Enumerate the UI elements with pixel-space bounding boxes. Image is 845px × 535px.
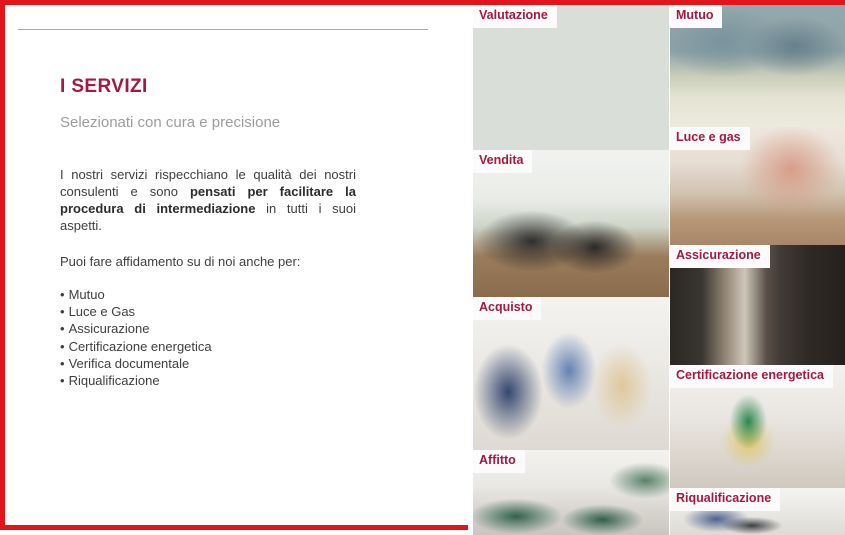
- couple-signing-contract-photo: [473, 297, 669, 450]
- list-item-label: Mutuo: [69, 287, 105, 302]
- text-panel: I SERVIZI Selezionati con cura e precisi…: [5, 5, 468, 525]
- list-item-label: Luce e Gas: [69, 304, 136, 319]
- list-item: •Riqualificazione: [60, 372, 360, 389]
- list-item: •Mutuo: [60, 286, 360, 303]
- list-item: •Assicurazione: [60, 320, 360, 337]
- list-item-label: Assicurazione: [69, 321, 150, 336]
- photo-tile-valutazione[interactable]: Valutazione: [473, 5, 669, 150]
- photo-label-valutazione: Valutazione: [473, 5, 557, 28]
- photo-label-acquisto: Acquisto: [473, 297, 541, 320]
- secondary-paragraph: Puoi fare affidamento su di noi anche pe…: [60, 253, 356, 270]
- list-item: •Certificazione energetica: [60, 338, 360, 355]
- photo-tile-affitto[interactable]: Affitto: [473, 450, 669, 535]
- photo-tile-certificazione-energetica[interactable]: Certificazione energetica: [670, 365, 845, 488]
- photo-tile-vendita[interactable]: Vendita: [473, 150, 669, 297]
- list-item-label: Riqualificazione: [69, 373, 160, 388]
- photo-mosaic: Valutazione Vendita Acquisto Affitto Mut…: [468, 5, 845, 535]
- page-title: I SERVIZI: [60, 77, 360, 98]
- photo-tile-luce-e-gas[interactable]: Luce e gas: [670, 127, 845, 245]
- photo-label-mutuo: Mutuo: [670, 5, 722, 28]
- photo-label-affitto: Affitto: [473, 450, 525, 473]
- photo-tile-acquisto[interactable]: Acquisto: [473, 297, 669, 450]
- bullet-marker-icon: •: [60, 321, 65, 336]
- bullet-marker-icon: •: [60, 373, 65, 388]
- list-item: •Verifica documentale: [60, 355, 360, 372]
- page-subtitle: Selezionati con cura e precisione: [60, 114, 360, 132]
- services-bullet-list: •Mutuo •Luce e Gas •Assicurazione •Certi…: [60, 286, 360, 390]
- slide-page: I SERVIZI Selezionati con cura e precisi…: [0, 0, 845, 530]
- photo-label-vendita: Vendita: [473, 150, 532, 173]
- text-block: I SERVIZI Selezionati con cura e precisi…: [60, 77, 360, 390]
- header-divider: [18, 29, 428, 30]
- bullet-marker-icon: •: [60, 287, 65, 302]
- photo-label-luce-e-gas: Luce e gas: [670, 127, 750, 150]
- intro-paragraph: I nostri servizi rispecchiano le qualità…: [60, 166, 356, 234]
- photo-tile-riqualificazione[interactable]: Riqualificazione: [670, 488, 845, 535]
- photo-label-assicurazione: Assicurazione: [670, 245, 770, 268]
- list-item: •Luce e Gas: [60, 303, 360, 320]
- list-item-label: Certificazione energetica: [69, 339, 212, 354]
- bullet-marker-icon: •: [60, 339, 65, 354]
- photo-tile-assicurazione[interactable]: Assicurazione: [670, 245, 845, 365]
- mosaic-column-right: Mutuo Luce e gas Assicurazione Certifica…: [670, 5, 845, 535]
- photo-tile-mutuo[interactable]: Mutuo: [670, 5, 845, 127]
- photo-label-certificazione-energetica: Certificazione energetica: [670, 365, 833, 388]
- bullet-marker-icon: •: [60, 356, 65, 371]
- photo-label-riqualificazione: Riqualificazione: [670, 488, 780, 511]
- list-item-label: Verifica documentale: [69, 356, 190, 371]
- bullet-marker-icon: •: [60, 304, 65, 319]
- mosaic-column-left: Valutazione Vendita Acquisto Affitto: [473, 5, 669, 535]
